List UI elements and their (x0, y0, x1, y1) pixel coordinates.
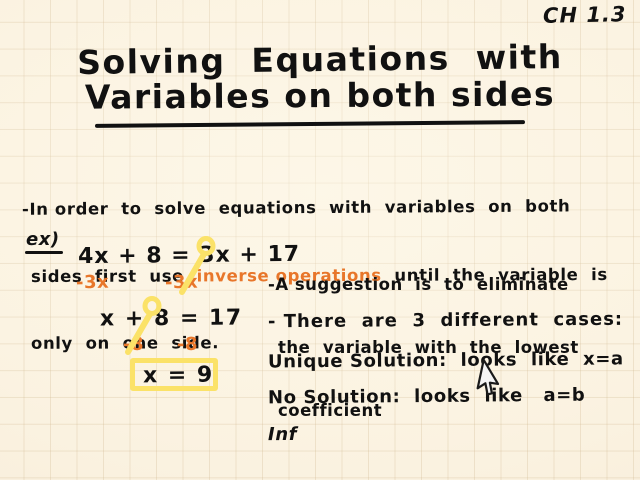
example-label: ex) (26, 229, 60, 250)
subtract-8-right: -8 (177, 334, 198, 355)
example-label-underline (25, 251, 63, 254)
page-title-line-2: Variables on both sides (0, 76, 640, 116)
title-underline (95, 120, 525, 128)
intro-line-1: -In order to solve equations with variab… (22, 195, 622, 221)
chapter-tag: CH 1.3 (542, 2, 626, 28)
equation-step-1: 4x + 8 = 3x + 17 (78, 242, 300, 269)
subtract-3x-right: -3x (165, 272, 198, 294)
suggestion-note: -A suggestion is to eliminate the variab… (268, 232, 579, 463)
cases-header: - There are 3 different cases: (268, 309, 623, 332)
case-infinite-solutions: Inf (268, 424, 297, 445)
subtract-3x-left: -3x (76, 272, 109, 294)
subtract-8-left: -8 (123, 334, 144, 355)
case-unique-solution: Unique Solution: looks like x=a (268, 348, 624, 372)
notes-canvas: CH 1.3 Solving Equations with Variables … (0, 0, 640, 480)
final-answer: x = 9 (143, 363, 214, 389)
page-title: Solving Equations with Variables on both… (0, 42, 640, 114)
equation-step-2: x + 8 = 17 (100, 306, 243, 332)
suggestion-line-1: -A suggestion is to eliminate (268, 274, 579, 295)
case-no-solution: No Solution: looks like a=b (268, 385, 586, 409)
